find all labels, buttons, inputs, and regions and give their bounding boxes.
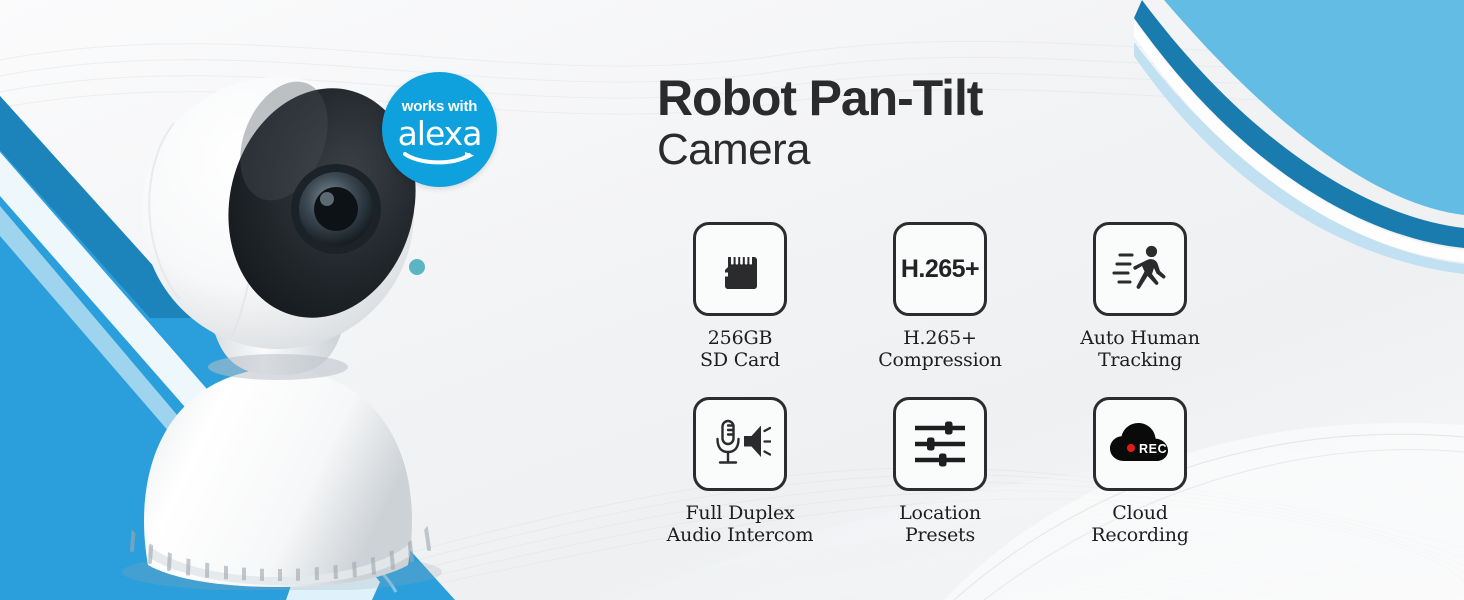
page-title: Robot Pan-Tilt Camera — [657, 72, 982, 174]
amazon-smile-arrow-icon — [403, 151, 477, 167]
feature-icon-box: H.265+ — [893, 222, 987, 316]
works-with-alexa-badge: works with alexa — [382, 72, 497, 187]
microphone-speaker-icon — [709, 417, 771, 471]
feature-grid: 256GB SD Card H.265+ H.265+ Compression — [640, 222, 1240, 572]
feature-label: Auto Human Tracking — [1080, 327, 1199, 372]
feature-icon-box — [893, 397, 987, 491]
feature-icon-box — [693, 222, 787, 316]
feature-item-compression: H.265+ H.265+ Compression — [840, 222, 1040, 397]
product-banner: Trueview works with alexa Robot Pan- — [0, 0, 1464, 600]
feature-label: Cloud Recording — [1091, 502, 1189, 547]
feature-item-cloud-recording: REC Cloud Recording — [1040, 397, 1240, 572]
sliders-icon — [911, 420, 969, 468]
feature-label: Full Duplex Audio Intercom — [667, 502, 814, 547]
title-line-1: Robot Pan-Tilt — [657, 72, 982, 125]
feature-label: Location Presets — [899, 502, 981, 547]
cloud-rec-icon: REC — [1108, 421, 1172, 467]
sd-card-icon — [712, 241, 768, 297]
feature-icon-box: REC — [1093, 397, 1187, 491]
h265-text-icon: H.265+ — [901, 255, 979, 284]
title-line-2: Camera — [657, 125, 982, 174]
alexa-wordmark: alexa — [398, 117, 482, 150]
feature-icon-box — [1093, 222, 1187, 316]
feature-label: H.265+ Compression — [878, 327, 1002, 372]
feature-label: 256GB SD Card — [700, 327, 780, 372]
feature-icon-box — [693, 397, 787, 491]
feature-item-location-presets: Location Presets — [840, 397, 1040, 572]
feature-item-human-tracking: Auto Human Tracking — [1040, 222, 1240, 397]
feature-item-sd-card: 256GB SD Card — [640, 222, 840, 397]
alexa-works-with-label: works with — [402, 99, 478, 114]
running-person-icon — [1111, 240, 1169, 298]
feature-item-audio-intercom: Full Duplex Audio Intercom — [640, 397, 840, 572]
svg-text:REC: REC — [1139, 442, 1167, 456]
